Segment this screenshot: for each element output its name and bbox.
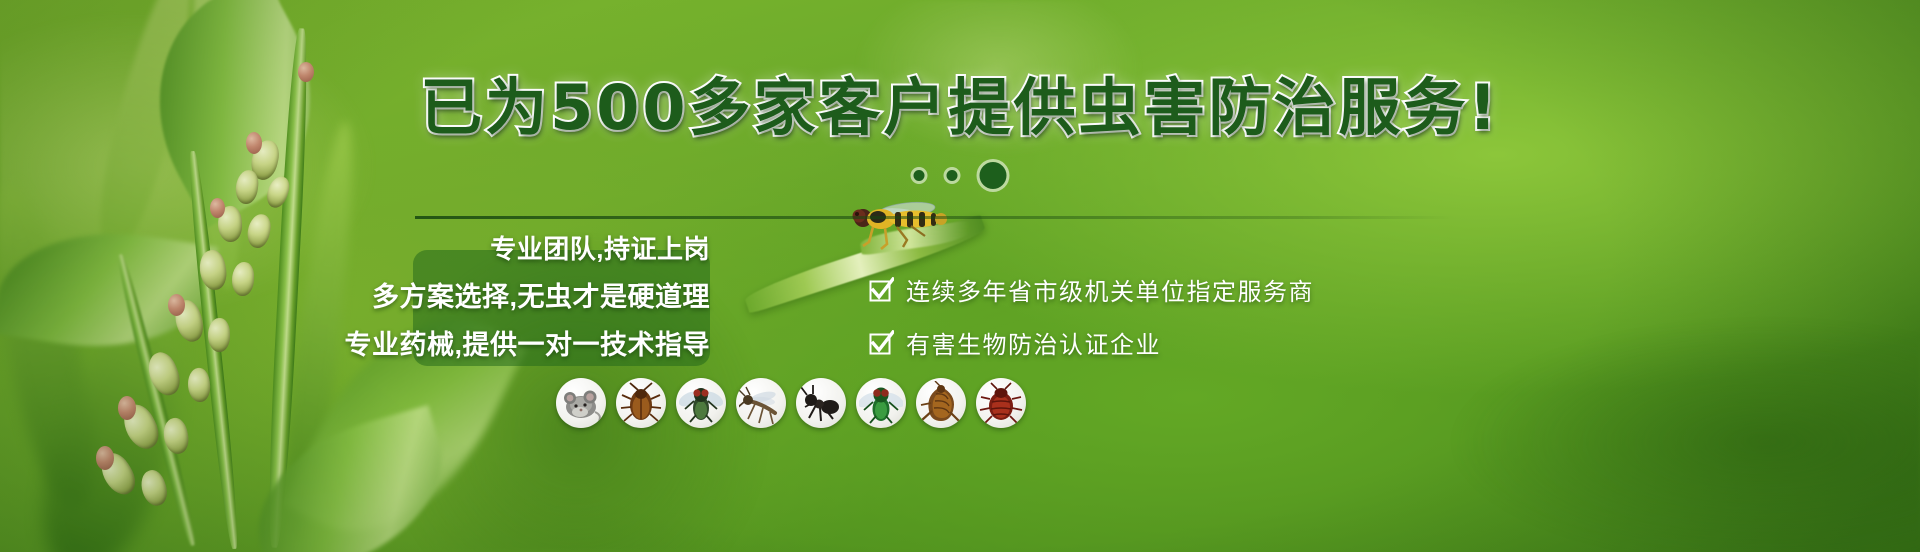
- hoverfly-photo: [845, 198, 955, 250]
- flea-icon[interactable]: [916, 378, 966, 428]
- credential-bullet-label: 连续多年省市级机关单位指定服务商: [906, 272, 1314, 307]
- pest-icon-row: [556, 378, 1026, 428]
- credential-bullet-item: 有害生物防治认证企业: [868, 325, 1314, 360]
- pest-control-hero-banner: 已为500多家客户提供虫害防治服务! 已为500多家客户提供虫害防治服务! 专业…: [0, 0, 1920, 552]
- feature-line-1: 专业团队,持证上岗: [340, 225, 712, 273]
- decorative-dots: [914, 162, 1007, 189]
- decor-dot-small: [914, 170, 925, 181]
- credential-bullet-item: 连续多年省市级机关单位指定服务商: [868, 272, 1314, 307]
- feature-text-group: 专业团队,持证上岗 多方案选择,无虫才是硬道理 专业药械,提供一对一技术指导: [340, 216, 712, 369]
- cockroach-icon[interactable]: [616, 378, 666, 428]
- feature-line-2: 多方案选择,无虫才是硬道理: [340, 273, 712, 321]
- decor-dot-small: [947, 170, 958, 181]
- credential-bullet-label: 有害生物防治认证企业: [906, 325, 1161, 360]
- bedbug-icon[interactable]: [976, 378, 1026, 428]
- credential-bullet-list: 连续多年省市级机关单位指定服务商 有害生物防治认证企业: [868, 272, 1314, 360]
- page-title: 已为500多家客户提供虫害防治服务!: [0, 74, 1920, 142]
- feature-line-3: 专业药械,提供一对一技术指导: [340, 321, 712, 369]
- fly-icon[interactable]: [676, 378, 726, 428]
- checkbox-checked-icon: [868, 330, 894, 356]
- blowfly-icon[interactable]: [856, 378, 906, 428]
- checkbox-checked-icon: [868, 277, 894, 303]
- mouse-icon[interactable]: [556, 378, 606, 428]
- ant-icon[interactable]: [796, 378, 846, 428]
- decor-dot-large: [980, 162, 1007, 189]
- mosquito-icon[interactable]: [736, 378, 786, 428]
